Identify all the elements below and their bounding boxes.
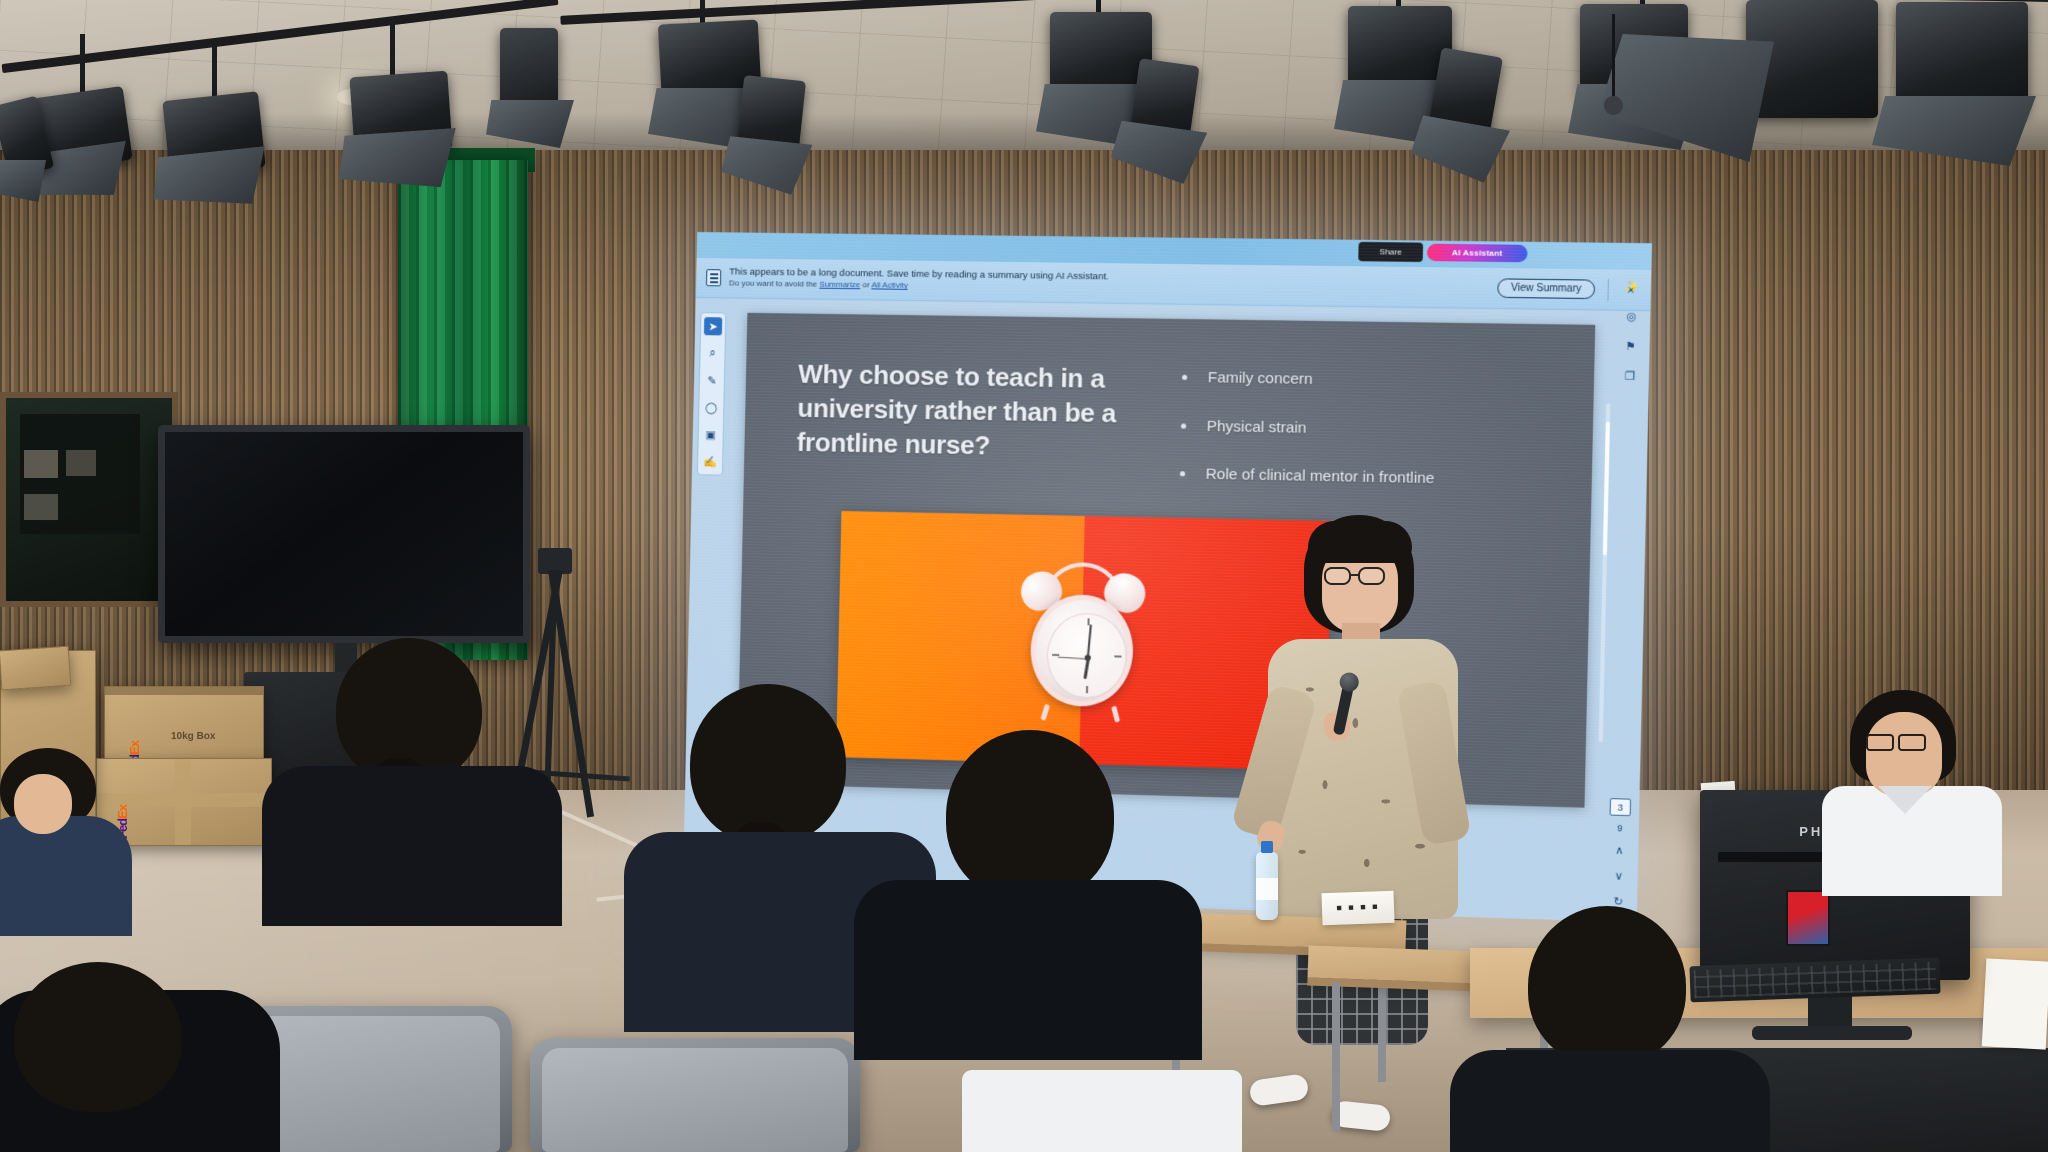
audience-shoulders-child-left — [0, 816, 132, 936]
search-icon[interactable]: ◎ — [1622, 307, 1641, 326]
presenter-glasses-left — [1324, 567, 1351, 585]
hanging-mic-capsule — [1604, 96, 1623, 115]
chair-2 — [530, 1038, 860, 1152]
slide-heading: Why choose to teach in a university rath… — [796, 358, 1133, 466]
slide-bullet-item: Role of clinical mentor in frontline — [1180, 464, 1596, 492]
ai-assistant-icon[interactable]: ✨ — [1622, 277, 1641, 296]
chair-cushion — [542, 1048, 848, 1152]
audience-head-3 — [946, 730, 1114, 902]
comment-tool-icon[interactable]: ◯ — [702, 398, 720, 416]
textbox-tool-icon[interactable]: ▣ — [702, 425, 720, 443]
clock-tick-3 — [1114, 655, 1121, 657]
pen-tool-icon[interactable]: ✎ — [703, 371, 721, 389]
bullet-text: Physical strain — [1206, 416, 1306, 438]
light-stem-b — [212, 42, 217, 100]
bullet-dot-icon — [1181, 423, 1186, 428]
clock-face — [1030, 593, 1135, 707]
window-shelf-1 — [24, 450, 58, 478]
all-activity-link[interactable]: All Activity — [871, 281, 908, 291]
document-scrollbar[interactable] — [1599, 403, 1611, 742]
light-stem-a — [80, 34, 85, 94]
light-stem-c — [390, 18, 395, 80]
barn-door-f2 — [1408, 114, 1510, 185]
cardboard-box-small — [0, 646, 71, 691]
audience-head-child-face — [14, 774, 72, 834]
signature-tool-icon[interactable]: ✍ — [701, 452, 719, 470]
bullet-text: Family concern — [1208, 368, 1313, 390]
audience-head-5 — [14, 962, 182, 1112]
bullet-dot-icon — [1180, 471, 1185, 476]
copy-pages-icon[interactable]: ❐ — [1620, 366, 1639, 385]
audience-foreground — [0, 740, 2048, 1152]
wall-opening-window — [0, 392, 178, 607]
pdf-left-toolbar: ➤ ⌕ ✎ ◯ ▣ ✍ — [697, 312, 727, 476]
barn-door-i — [1872, 96, 2036, 166]
notification-line2-prefix: Do you want to avoid the — [729, 279, 817, 289]
audience-shoulders-1 — [262, 766, 562, 926]
notification-text-block: This appears to be a long document. Save… — [729, 267, 1498, 300]
barn-door-a2 — [0, 160, 46, 202]
audience-shoulders-3 — [854, 880, 1202, 1060]
truss-bar-1 — [2, 0, 559, 73]
clock-center-pin — [1085, 654, 1091, 660]
document-icon — [706, 269, 721, 286]
alarm-clock-icon — [1020, 563, 1144, 718]
select-tool-icon[interactable]: ➤ — [704, 317, 722, 335]
presenter-glasses-bridge — [1351, 574, 1360, 576]
view-summary-button[interactable]: View Summary — [1497, 278, 1595, 299]
share-tab[interactable]: Share — [1358, 242, 1423, 262]
presenter-fringe — [1308, 521, 1412, 563]
hanging-mic-cable — [1612, 14, 1615, 100]
slide-bullet-item: Physical strain — [1181, 416, 1598, 443]
barn-door-d2 — [720, 136, 813, 197]
barn-door-e2 — [1109, 120, 1208, 186]
box-flap — [105, 687, 263, 695]
bullet-text: Role of clinical mentor in frontline — [1205, 465, 1434, 489]
ai-assistant-badge-label: AI Assistant — [1427, 244, 1528, 263]
window-shelf-2 — [24, 494, 58, 520]
clock-second-hand — [1057, 656, 1088, 659]
slide-bullet-item: Family concern — [1182, 368, 1599, 395]
clock-hour-hand — [1083, 658, 1089, 678]
scrollbar-thumb[interactable] — [1603, 422, 1610, 556]
notification-divider — [1607, 278, 1609, 301]
presenter-glasses-right — [1358, 567, 1385, 585]
truss-bar-2 — [560, 0, 1319, 25]
window-shelf-3 — [66, 450, 96, 476]
summarize-link[interactable]: Summarize — [819, 280, 860, 290]
stage-lighting-rig — [0, 0, 2048, 230]
clock-dial — [1046, 612, 1128, 699]
zoom-tool-icon[interactable]: ⌕ — [703, 344, 721, 362]
clock-minute-hand — [1087, 624, 1093, 658]
barn-door-h — [1598, 34, 1774, 162]
audience-jacket-3 — [962, 1070, 1242, 1152]
barn-door-c2 — [486, 100, 574, 148]
share-tab-label: Share — [1358, 242, 1423, 262]
wall-display-tv — [158, 425, 530, 643]
pdf-right-toolbar: ✨ ◎ ⚑ ❐ — [1615, 272, 1647, 391]
audience-shoulders-4 — [1450, 1050, 1770, 1152]
clock-tick-9 — [1052, 653, 1059, 655]
notification-line2-mid: or — [862, 280, 869, 289]
barn-door-c — [336, 128, 460, 194]
lecture-hall-photo: FedEx 10kg Box FedEx Share AI Assistant — [0, 0, 2048, 1152]
tv-screen — [165, 432, 523, 636]
audience-head-2 — [690, 684, 846, 844]
clock-tick-6 — [1086, 686, 1088, 693]
audience-head-4 — [1528, 906, 1686, 1066]
bookmark-icon[interactable]: ⚑ — [1621, 337, 1640, 356]
slide-bullet-list: Family concern Physical strain Role of c… — [1179, 368, 1598, 521]
bullet-dot-icon — [1182, 375, 1187, 380]
ai-assistant-badge[interactable]: AI Assistant — [1427, 244, 1528, 263]
